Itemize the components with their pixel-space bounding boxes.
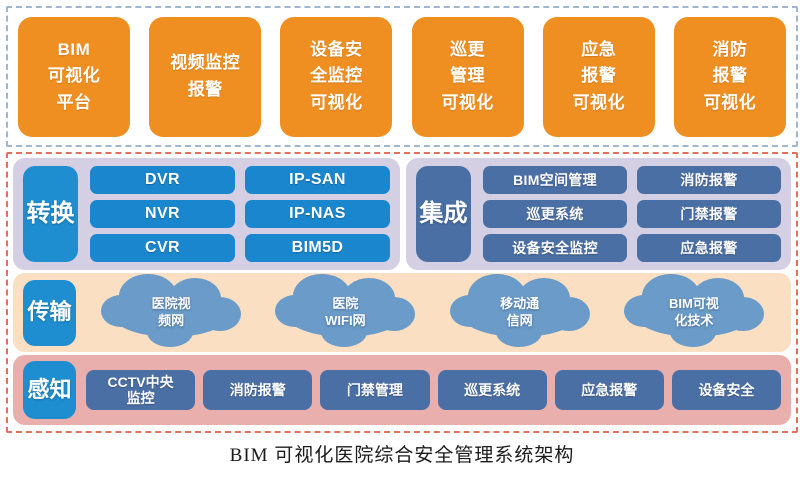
sensing-layer-label: 感知 bbox=[23, 361, 76, 419]
cloud-label: 移动通 信网 bbox=[500, 296, 539, 329]
sensing-item-fire-alarm[interactable]: 消防报警 bbox=[203, 370, 312, 410]
card-line: 可视化 bbox=[48, 63, 101, 89]
cloud-icon-hospital-video-network[interactable]: 医院视 频网 bbox=[111, 289, 231, 337]
integration-layer: 集成 BIM空间管理 消防报警 巡更系统 门禁报警 设备安全监控 应急报警 bbox=[406, 158, 791, 270]
application-card-video-surveillance-alarm[interactable]: 视频监控 报警 bbox=[149, 17, 261, 137]
card-line: 应急 bbox=[581, 37, 616, 63]
cloud-bump bbox=[101, 295, 141, 327]
application-card-emergency-alarm[interactable]: 应急 报警 可视化 bbox=[543, 17, 655, 137]
conversion-item-cvr[interactable]: CVR bbox=[90, 234, 235, 262]
sensing-line: CCTV中央 bbox=[108, 374, 174, 390]
sensing-items: CCTV中央 监控 消防报警 门禁管理 巡更系统 应急报警 设备安全 bbox=[86, 370, 781, 410]
application-card-bim-platform[interactable]: BIM 可视化 平台 bbox=[18, 17, 130, 137]
cloud-bump bbox=[275, 295, 315, 327]
sensing-item-label: CCTV中央 监控 bbox=[108, 374, 174, 406]
cloud-icon-bim-visualization-technology[interactable]: BIM可视 化技术 bbox=[634, 289, 754, 337]
cloud-line: BIM可视 bbox=[669, 296, 719, 311]
cloud-bump bbox=[450, 295, 490, 327]
conversion-integration-row: 转换 DVR IP-SAN NVR IP-NAS CVR BIM5D 集成 BI… bbox=[13, 158, 791, 270]
cloud-line: 信网 bbox=[507, 313, 533, 328]
card-line: 可视化 bbox=[704, 90, 757, 116]
transmission-layer-label: 传输 bbox=[23, 280, 76, 346]
conversion-item-dvr[interactable]: DVR bbox=[90, 166, 235, 194]
cloud-bump bbox=[548, 297, 590, 331]
sensing-layer: 感知 CCTV中央 监控 消防报警 门禁管理 巡更系统 应急报警 设备安全 bbox=[13, 355, 791, 425]
integration-item-access-control-alarm[interactable]: 门禁报警 bbox=[637, 200, 781, 228]
cloud-line: 化技术 bbox=[674, 313, 713, 328]
card-line: 报警 bbox=[712, 63, 747, 89]
transmission-layer: 传输 医院视 频网 医院 WIFI bbox=[13, 273, 791, 352]
cloud-icon-hospital-wifi-network[interactable]: 医院 WIFI网 bbox=[285, 289, 405, 337]
diagram-caption: BIM 可视化医院综合安全管理系统架构 bbox=[0, 440, 804, 467]
infrastructure-stack: 转换 DVR IP-SAN NVR IP-NAS CVR BIM5D 集成 BI… bbox=[6, 152, 798, 433]
conversion-layer-label: 转换 bbox=[23, 166, 78, 262]
card-line: 视频监控 bbox=[170, 50, 240, 76]
card-line: 可视化 bbox=[573, 90, 626, 116]
conversion-item-ip-san[interactable]: IP-SAN bbox=[245, 166, 390, 194]
cloud-line: 频网 bbox=[158, 313, 184, 328]
card-line: 报警 bbox=[581, 63, 616, 89]
card-line: 平台 bbox=[57, 90, 92, 116]
card-line: 可视化 bbox=[441, 90, 494, 116]
sensing-line: 监控 bbox=[127, 390, 155, 406]
conversion-item-bim5d[interactable]: BIM5D bbox=[245, 234, 390, 262]
application-layer: BIM 可视化 平台 视频监控 报警 设备安 全监控 可视化 巡更 管理 可视化… bbox=[6, 6, 798, 147]
application-card-patrol-management[interactable]: 巡更 管理 可视化 bbox=[412, 17, 524, 137]
card-line: BIM bbox=[58, 37, 91, 63]
cloud-label: 医院视 频网 bbox=[152, 296, 191, 329]
cloud-label: BIM可视 化技术 bbox=[669, 296, 719, 329]
conversion-layer: 转换 DVR IP-SAN NVR IP-NAS CVR BIM5D bbox=[13, 158, 400, 270]
application-card-equipment-safety-monitoring[interactable]: 设备安 全监控 可视化 bbox=[280, 17, 392, 137]
transmission-nodes: 医院视 频网 医院 WIFI网 bbox=[84, 278, 781, 348]
cloud-icon-mobile-communication-network[interactable]: 移动通 信网 bbox=[460, 289, 580, 337]
integration-item-equipment-safety-monitoring[interactable]: 设备安全监控 bbox=[483, 234, 627, 262]
conversion-items: DVR IP-SAN NVR IP-NAS CVR BIM5D bbox=[90, 166, 390, 262]
integration-item-fire-alarm[interactable]: 消防报警 bbox=[637, 166, 781, 194]
cloud-line: 移动通 bbox=[500, 296, 539, 311]
card-line: 设备安 bbox=[310, 37, 363, 63]
sensing-item-cctv-central-monitoring[interactable]: CCTV中央 监控 bbox=[86, 370, 195, 410]
cloud-bump bbox=[199, 297, 241, 331]
cloud-line: 医院 bbox=[332, 296, 358, 311]
cloud-bump bbox=[722, 297, 764, 331]
cloud-bump bbox=[624, 295, 664, 327]
integration-layer-label: 集成 bbox=[416, 166, 471, 262]
diagram-canvas: BIM 可视化 平台 视频监控 报警 设备安 全监控 可视化 巡更 管理 可视化… bbox=[0, 0, 804, 477]
card-line: 消防 bbox=[712, 37, 747, 63]
integration-item-bim-space-management[interactable]: BIM空间管理 bbox=[483, 166, 627, 194]
conversion-item-ip-nas[interactable]: IP-NAS bbox=[245, 200, 390, 228]
card-line: 巡更 bbox=[450, 37, 485, 63]
cloud-label: 医院 WIFI网 bbox=[325, 296, 365, 329]
conversion-item-nvr[interactable]: NVR bbox=[90, 200, 235, 228]
cloud-line: WIFI网 bbox=[325, 313, 365, 328]
integration-items: BIM空间管理 消防报警 巡更系统 门禁报警 设备安全监控 应急报警 bbox=[483, 166, 781, 262]
sensing-item-access-control-management[interactable]: 门禁管理 bbox=[320, 370, 429, 410]
cloud-bump bbox=[373, 297, 415, 331]
card-line: 可视化 bbox=[310, 90, 363, 116]
sensing-item-equipment-safety[interactable]: 设备安全 bbox=[672, 370, 781, 410]
integration-item-patrol-system[interactable]: 巡更系统 bbox=[483, 200, 627, 228]
cloud-line: 医院视 bbox=[152, 296, 191, 311]
sensing-item-patrol-system[interactable]: 巡更系统 bbox=[438, 370, 547, 410]
card-line: 报警 bbox=[188, 77, 223, 103]
card-line: 管理 bbox=[450, 63, 485, 89]
sensing-item-emergency-alarm[interactable]: 应急报警 bbox=[555, 370, 664, 410]
integration-item-emergency-alarm[interactable]: 应急报警 bbox=[637, 234, 781, 262]
card-line: 全监控 bbox=[310, 63, 363, 89]
application-card-fire-alarm[interactable]: 消防 报警 可视化 bbox=[674, 17, 786, 137]
